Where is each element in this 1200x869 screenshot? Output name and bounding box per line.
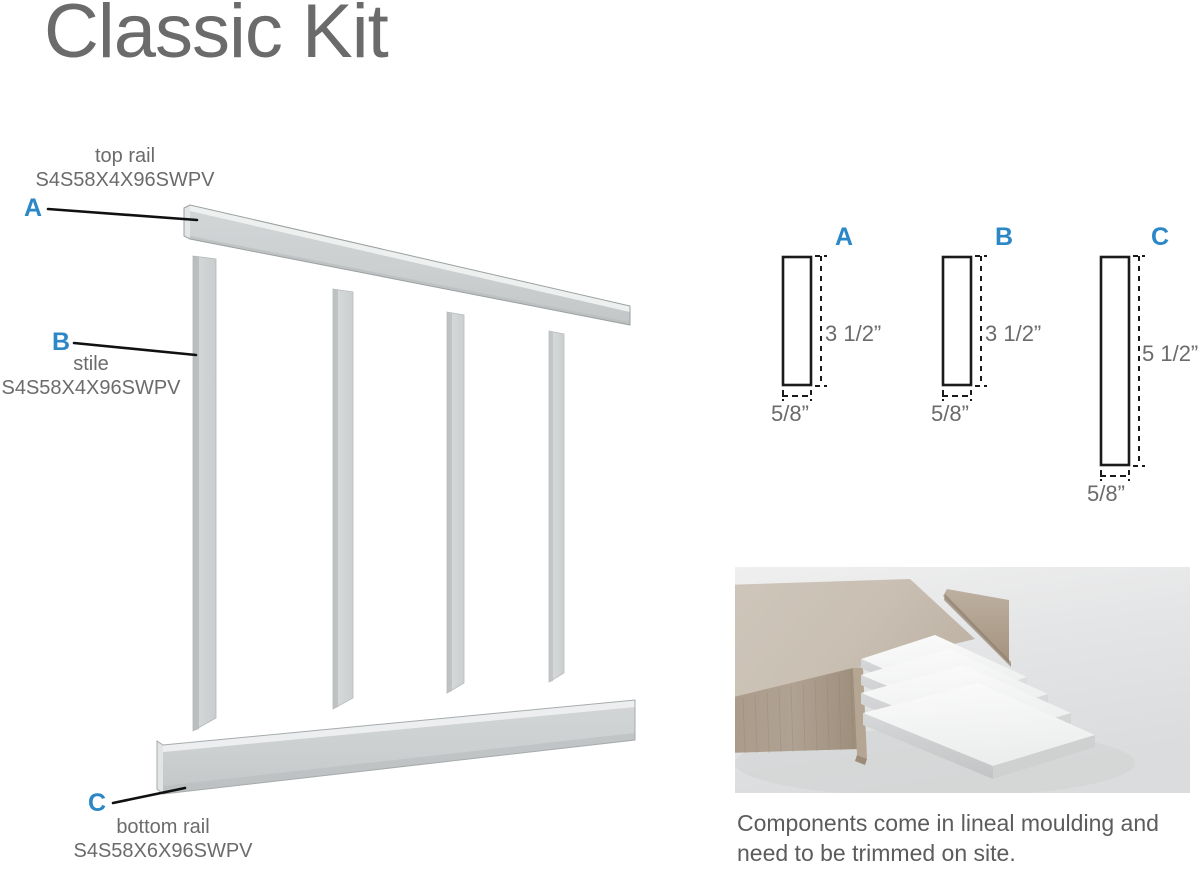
callout-name-b: stile bbox=[0, 353, 194, 377]
stile-part-4 bbox=[549, 331, 564, 682]
profile-letter-a: A bbox=[835, 225, 853, 250]
stile-part-3 bbox=[447, 312, 464, 693]
profile-letter-c: C bbox=[1151, 225, 1169, 250]
callout-name-a: top rail bbox=[22, 145, 228, 169]
product-diagram-page: Classic Kit bbox=[0, 0, 1200, 868]
profile-c-width-dim: 5/8” bbox=[1087, 483, 1125, 505]
assembly-exploded-drawing bbox=[0, 0, 700, 820]
callout-label-b: stile S4S58X4X96SWPV bbox=[0, 353, 194, 400]
leader-line-a bbox=[48, 209, 197, 220]
callout-letter-c: C bbox=[88, 791, 106, 816]
stile-part-2 bbox=[333, 289, 353, 709]
profile-b-height-dim: 3 1/2” bbox=[985, 323, 1041, 345]
profile-a-height-dim: 3 1/2” bbox=[825, 323, 881, 345]
callout-name-c: bottom rail bbox=[60, 816, 266, 840]
top-rail-part bbox=[184, 205, 630, 325]
profile-c-height-dim: 5 1/2” bbox=[1142, 343, 1198, 365]
profile-b-width-dim: 5/8” bbox=[931, 403, 969, 425]
callout-letter-b: B bbox=[52, 330, 70, 355]
callout-sku-b: S4S58X4X96SWPV bbox=[0, 377, 194, 401]
stile-part-1 bbox=[193, 256, 216, 731]
caption-line-2: need to be trimmed on site. bbox=[737, 838, 1199, 868]
callout-label-a: top rail S4S58X4X96SWPV bbox=[22, 145, 228, 192]
product-photo bbox=[735, 567, 1190, 793]
profile-diagram-b: B 3 1/2” 5/8” bbox=[940, 225, 1120, 435]
caption-line-1: Components come in lineal moulding and bbox=[737, 808, 1199, 838]
product-photo-illustration bbox=[735, 567, 1190, 793]
bottom-rail-part bbox=[157, 700, 635, 794]
profile-diagram-c: C 5 1/2” 5/8” bbox=[1098, 225, 1200, 515]
leader-line-c bbox=[113, 788, 185, 803]
profile-a-width-dim: 5/8” bbox=[771, 403, 809, 425]
callout-label-c: bottom rail S4S58X6X96SWPV bbox=[60, 816, 266, 863]
profile-letter-b: B bbox=[995, 225, 1013, 250]
photo-caption: Components come in lineal moulding and n… bbox=[737, 808, 1199, 869]
callout-sku-c: S4S58X6X96SWPV bbox=[60, 840, 266, 864]
callout-letter-a: A bbox=[24, 196, 42, 221]
callout-sku-a: S4S58X4X96SWPV bbox=[22, 169, 228, 193]
